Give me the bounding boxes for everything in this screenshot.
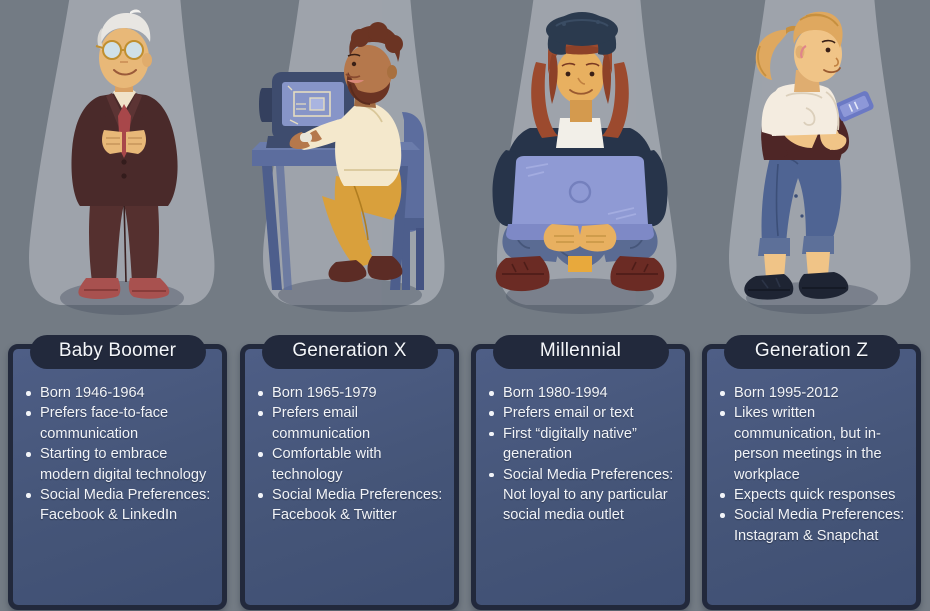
list-item: Likes written communication, but in-pers… bbox=[713, 403, 910, 485]
list-item: First “digitally native” generation bbox=[482, 424, 679, 465]
card-title: Millennial bbox=[540, 340, 621, 361]
card-header-generation-x: Generation X bbox=[262, 335, 438, 369]
generations-illustration bbox=[0, 0, 930, 335]
card-title: Generation X bbox=[292, 340, 406, 361]
list-item: Prefers face-to-face communication bbox=[19, 403, 216, 444]
generation-cards: Baby Boomer Born 1946-1964 Prefers face-… bbox=[0, 330, 930, 611]
list-item: Prefers email or text bbox=[482, 403, 679, 423]
card-millennial: Millennial Born 1980-1994 Prefers email … bbox=[471, 344, 690, 610]
list-item: Expects quick responses bbox=[713, 485, 910, 505]
card-generation-x: Generation X Born 1965-1979 Prefers emai… bbox=[240, 344, 459, 610]
card-generation-z: Generation Z Born 1995-2012 Likes writte… bbox=[702, 344, 921, 610]
list-item: Prefers email communication bbox=[251, 403, 448, 444]
list-item: Social Media Preferences: Facebook & Lin… bbox=[19, 485, 216, 526]
card-body-generation-x: Born 1965-1979 Prefers email communicati… bbox=[251, 383, 448, 601]
card-title: Generation Z bbox=[755, 340, 868, 361]
card-baby-boomer: Baby Boomer Born 1946-1964 Prefers face-… bbox=[8, 344, 227, 610]
infographic-canvas: Baby Boomer Born 1946-1964 Prefers face-… bbox=[0, 0, 930, 611]
list-item: Social Media Preferences: Not loyal to a… bbox=[482, 465, 679, 526]
bullet-list: Born 1965-1979 Prefers email communicati… bbox=[251, 383, 448, 526]
card-body-baby-boomer: Born 1946-1964 Prefers face-to-face comm… bbox=[19, 383, 216, 601]
card-header-generation-z: Generation Z bbox=[724, 335, 900, 369]
list-item: Social Media Preferences: Instagram & Sn… bbox=[713, 505, 910, 546]
list-item: Starting to embrace modern digital techn… bbox=[19, 444, 216, 485]
list-item: Born 1980-1994 bbox=[482, 383, 679, 403]
card-body-generation-z: Born 1995-2012 Likes written communicati… bbox=[713, 383, 910, 601]
list-item: Born 1946-1964 bbox=[19, 383, 216, 403]
card-header-millennial: Millennial bbox=[493, 335, 669, 369]
card-title: Baby Boomer bbox=[59, 340, 176, 361]
bullet-list: Born 1946-1964 Prefers face-to-face comm… bbox=[19, 383, 216, 526]
card-body-millennial: Born 1980-1994 Prefers email or text Fir… bbox=[482, 383, 679, 601]
bullet-list: Born 1980-1994 Prefers email or text Fir… bbox=[482, 383, 679, 526]
list-item: Comfortable with technology bbox=[251, 444, 448, 485]
list-item: Social Media Preferences: Facebook & Twi… bbox=[251, 485, 448, 526]
illustration-band bbox=[0, 0, 930, 335]
list-item: Born 1965-1979 bbox=[251, 383, 448, 403]
card-header-baby-boomer: Baby Boomer bbox=[30, 335, 206, 369]
list-item: Born 1995-2012 bbox=[713, 383, 910, 403]
bullet-list: Born 1995-2012 Likes written communicati… bbox=[713, 383, 910, 546]
